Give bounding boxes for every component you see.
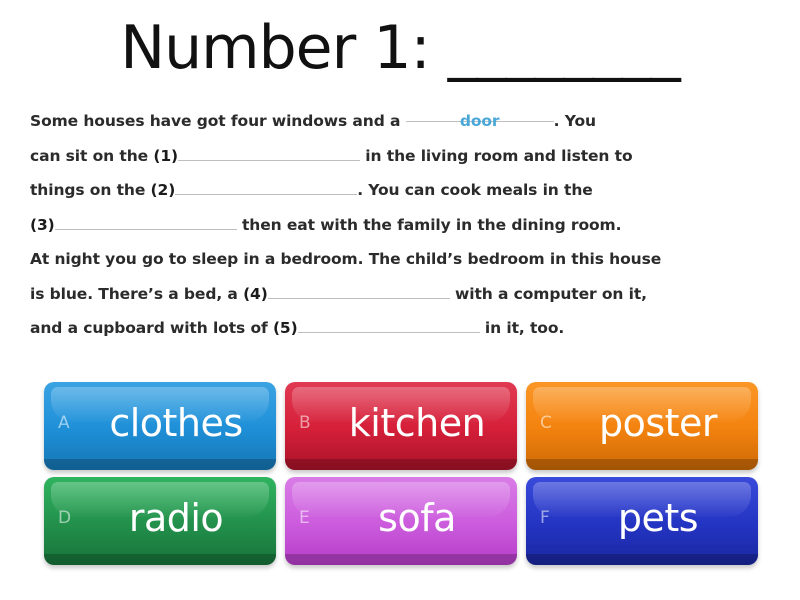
passage-line: things on the (2). You can cook meals in… xyxy=(30,173,770,208)
passage-text: with a computer on it, xyxy=(450,285,647,303)
answer-option-label: clothes xyxy=(88,404,264,442)
answer-options-grid: AclothesBkitchenCposterDradioEsofaFpets xyxy=(44,382,758,565)
answer-blank-empty[interactable] xyxy=(55,211,237,229)
answer-option-b[interactable]: Bkitchen xyxy=(285,382,517,470)
passage-text: can sit on the xyxy=(30,147,153,165)
answer-option-label: poster xyxy=(570,404,746,442)
answer-blank-empty[interactable] xyxy=(268,280,450,298)
answer-blank-empty[interactable] xyxy=(298,315,480,333)
blank-number: (1) xyxy=(153,147,178,165)
passage-line: Some houses have got four windows and a … xyxy=(30,104,770,139)
answer-option-f[interactable]: Fpets xyxy=(526,477,758,565)
passage-text: in the living room and listen to xyxy=(360,147,633,165)
passage-text: At night you go to sleep in a bedroom. T… xyxy=(30,250,661,268)
blank-number: (5) xyxy=(273,319,298,337)
answer-option-d[interactable]: Dradio xyxy=(44,477,276,565)
answer-blank-filled[interactable]: door xyxy=(406,104,554,122)
passage-line: can sit on the (1) in the living room an… xyxy=(30,139,770,174)
blank-number: (4) xyxy=(243,285,268,303)
question-passage: Some houses have got four windows and a … xyxy=(30,104,770,346)
passage-text: . You xyxy=(554,112,596,130)
answer-option-label: radio xyxy=(88,499,264,537)
passage-line: and a cupboard with lots of (5) in it, t… xyxy=(30,311,770,346)
answer-option-a[interactable]: Aclothes xyxy=(44,382,276,470)
answer-blank-empty[interactable] xyxy=(175,177,357,195)
answer-blank-empty[interactable] xyxy=(178,142,360,160)
passage-text: in it, too. xyxy=(480,319,565,337)
passage-line: is blue. There’s a bed, a (4) with a com… xyxy=(30,277,770,312)
answer-option-letter: D xyxy=(58,508,88,528)
answer-option-e[interactable]: Esofa xyxy=(285,477,517,565)
passage-line: At night you go to sleep in a bedroom. T… xyxy=(30,242,770,277)
passage-text: things on the xyxy=(30,181,151,199)
passage-text: Some houses have got four windows and a xyxy=(30,112,406,130)
page-title: Number 1: ________ xyxy=(0,0,800,78)
answer-option-label: pets xyxy=(570,499,746,537)
answer-option-c[interactable]: Cposter xyxy=(526,382,758,470)
blank-number: (3) xyxy=(30,216,55,234)
answer-option-label: sofa xyxy=(329,499,505,537)
passage-text: . You can cook meals in the xyxy=(357,181,593,199)
blank-number: (2) xyxy=(151,181,176,199)
answer-option-letter: E xyxy=(299,508,329,528)
answer-option-letter: B xyxy=(299,413,329,433)
answer-option-letter: C xyxy=(540,413,570,433)
passage-text: is blue. There’s a bed, a xyxy=(30,285,243,303)
answer-option-letter: A xyxy=(58,413,88,433)
passage-line: (3) then eat with the family in the dini… xyxy=(30,208,770,243)
answer-option-label: kitchen xyxy=(329,404,505,442)
passage-text: then eat with the family in the dining r… xyxy=(237,216,622,234)
passage-text: and a cupboard with lots of xyxy=(30,319,273,337)
answer-option-letter: F xyxy=(540,508,570,528)
